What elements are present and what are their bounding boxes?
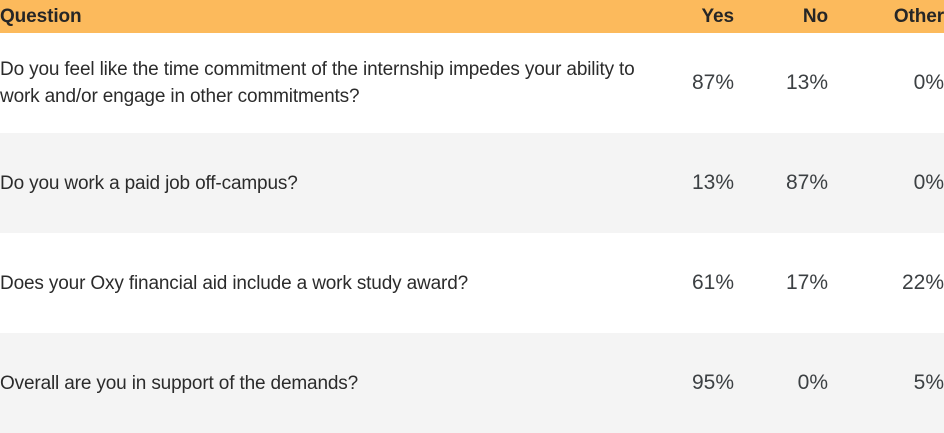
column-header-no: No	[734, 0, 828, 33]
row-value-other: 0%	[828, 133, 944, 233]
row-value-other: 0%	[828, 33, 944, 133]
row-value-other: 22%	[828, 233, 944, 333]
column-header-yes: Yes	[636, 0, 734, 33]
table-row: Does your Oxy financial aid include a wo…	[0, 233, 944, 333]
row-value-yes: 95%	[636, 333, 734, 433]
row-value-no: 87%	[734, 133, 828, 233]
row-question: Overall are you in support of the demand…	[0, 333, 636, 433]
row-value-no: 13%	[734, 33, 828, 133]
table-row: Overall are you in support of the demand…	[0, 333, 944, 433]
row-question: Do you work a paid job off-campus?	[0, 133, 636, 233]
row-value-yes: 13%	[636, 133, 734, 233]
table-row: Do you work a paid job off-campus? 13% 8…	[0, 133, 944, 233]
survey-results-table: Question Yes No Other Do you feel like t…	[0, 0, 944, 433]
column-header-question: Question	[0, 0, 636, 33]
row-question: Does your Oxy financial aid include a wo…	[0, 233, 636, 333]
row-value-yes: 61%	[636, 233, 734, 333]
table-body: Do you feel like the time commitment of …	[0, 33, 944, 433]
table-header: Question Yes No Other	[0, 0, 944, 33]
table-row: Do you feel like the time commitment of …	[0, 33, 944, 133]
row-value-no: 0%	[734, 333, 828, 433]
table-header-row: Question Yes No Other	[0, 0, 944, 33]
row-value-no: 17%	[734, 233, 828, 333]
row-value-yes: 87%	[636, 33, 734, 133]
row-question: Do you feel like the time commitment of …	[0, 33, 636, 133]
row-value-other: 5%	[828, 333, 944, 433]
column-header-other: Other	[828, 0, 944, 33]
